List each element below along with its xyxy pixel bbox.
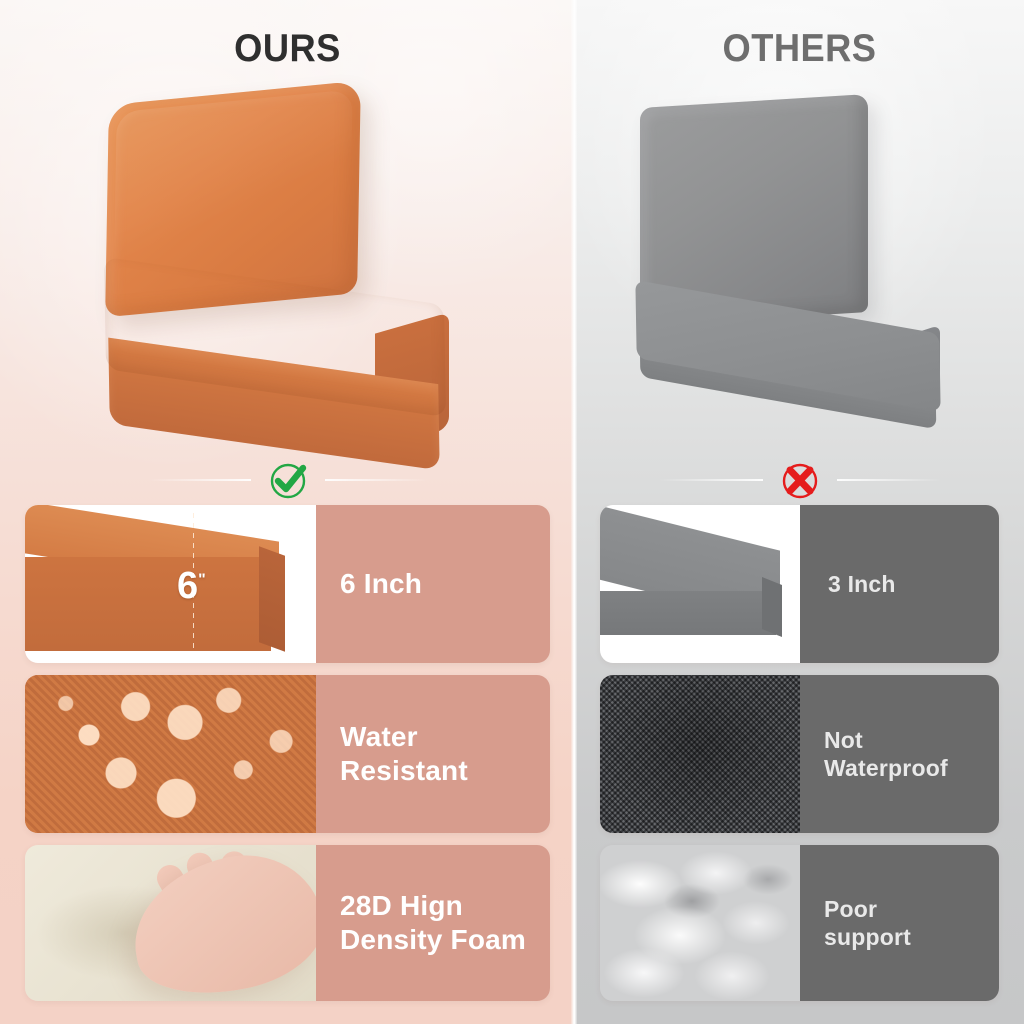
feature-card-others-thickness: 3 Inch (600, 505, 999, 663)
hero-image-ours (75, 85, 505, 455)
feature-label-text: 6 Inch (316, 567, 422, 601)
feature-card-ours-foam: 28D Hign Density Foam (25, 845, 550, 1001)
feature-label-text: Not Waterproof (800, 726, 948, 782)
feature-image-others-water (600, 675, 800, 833)
center-divider (571, 0, 577, 1024)
feature-image-ours-thickness: 6" (25, 505, 316, 663)
feature-label-others-foam: Poor support (800, 845, 999, 1001)
comparison-infographic: OURS OTHERS (0, 0, 1024, 1024)
page-title-others: OTHERS (591, 27, 1009, 71)
feature-image-others-foam (600, 845, 800, 1001)
feature-label-text: Water Resistant (316, 720, 468, 788)
check-circle-icon (265, 457, 311, 503)
divider-line-left (659, 479, 763, 481)
divider-line-left (147, 479, 251, 481)
feature-card-ours-thickness: 6" 6 Inch (25, 505, 550, 663)
feature-card-others-water: Not Waterproof (600, 675, 999, 833)
divider-line-right (325, 479, 429, 481)
verdict-row-others (575, 458, 1024, 502)
page-title-ours: OURS (20, 27, 555, 71)
feature-label-others-water: Not Waterproof (800, 675, 999, 833)
feature-card-ours-water: Water Resistant (25, 675, 550, 833)
cross-circle-icon (777, 457, 823, 503)
hero-image-others (610, 95, 1000, 425)
feature-label-text: Poor support (800, 895, 911, 951)
feature-image-ours-foam (25, 845, 316, 1001)
feature-label-ours-thickness: 6 Inch (316, 505, 550, 663)
feature-label-ours-water: Water Resistant (316, 675, 550, 833)
feature-label-ours-foam: 28D Hign Density Foam (316, 845, 550, 1001)
feature-card-others-foam: Poor support (600, 845, 999, 1001)
feature-label-text: 3 Inch (800, 570, 896, 598)
feature-image-others-thickness (600, 505, 800, 663)
feature-image-ours-water (25, 675, 316, 833)
divider-line-right (837, 479, 941, 481)
feature-label-text: 28D Hign Density Foam (316, 889, 526, 957)
verdict-row-ours (0, 458, 575, 502)
thickness-marker: 6" (177, 565, 205, 608)
feature-label-others-thickness: 3 Inch (800, 505, 999, 663)
